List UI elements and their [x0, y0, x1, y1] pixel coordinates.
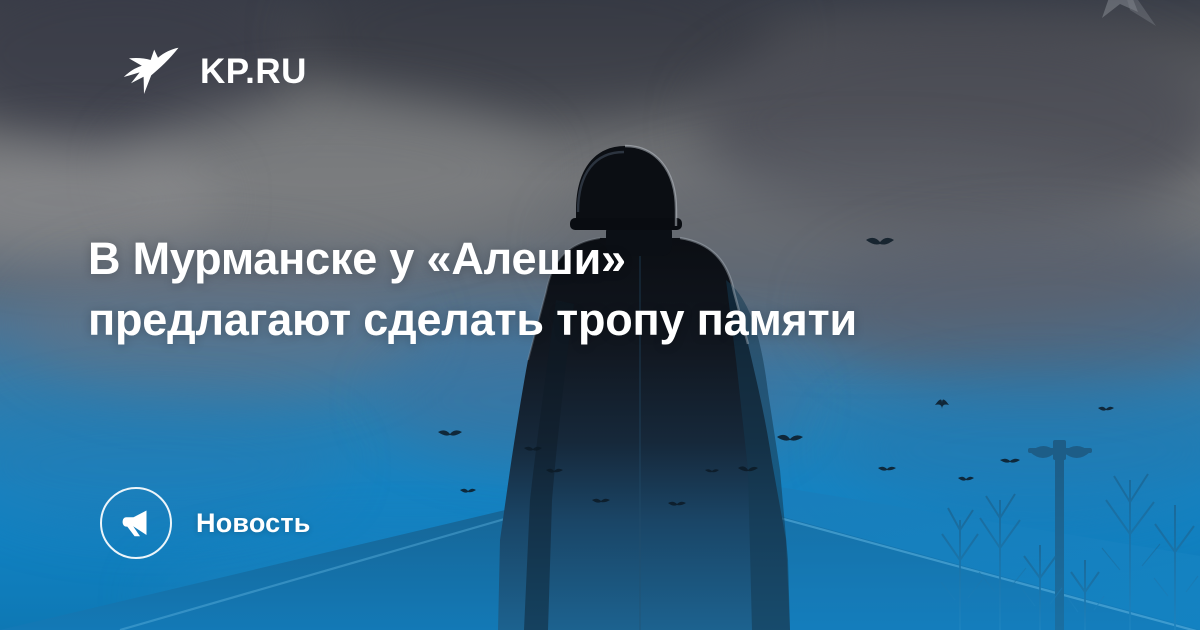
headline-line-1: В Мурманске у «Алеши» — [88, 228, 1108, 289]
megaphone-badge-circle — [100, 487, 172, 559]
megaphone-icon — [116, 503, 156, 543]
headline-line-2: предлагают сделать тропу памяти — [88, 289, 1108, 350]
kp-logo[interactable]: KP.RU — [114, 38, 307, 104]
swallow-bird-logo-icon — [114, 38, 180, 104]
top-edge-light-shape — [1060, 0, 1180, 46]
social-share-card: KP.RU В Мурманске у «Алеши» предлагают с… — [0, 0, 1200, 630]
category-badge[interactable]: Новость — [100, 487, 311, 559]
headline: В Мурманске у «Алеши» предлагают сделать… — [88, 228, 1108, 350]
badge-label: Новость — [196, 508, 311, 539]
kp-wordmark: KP.RU — [200, 54, 307, 89]
